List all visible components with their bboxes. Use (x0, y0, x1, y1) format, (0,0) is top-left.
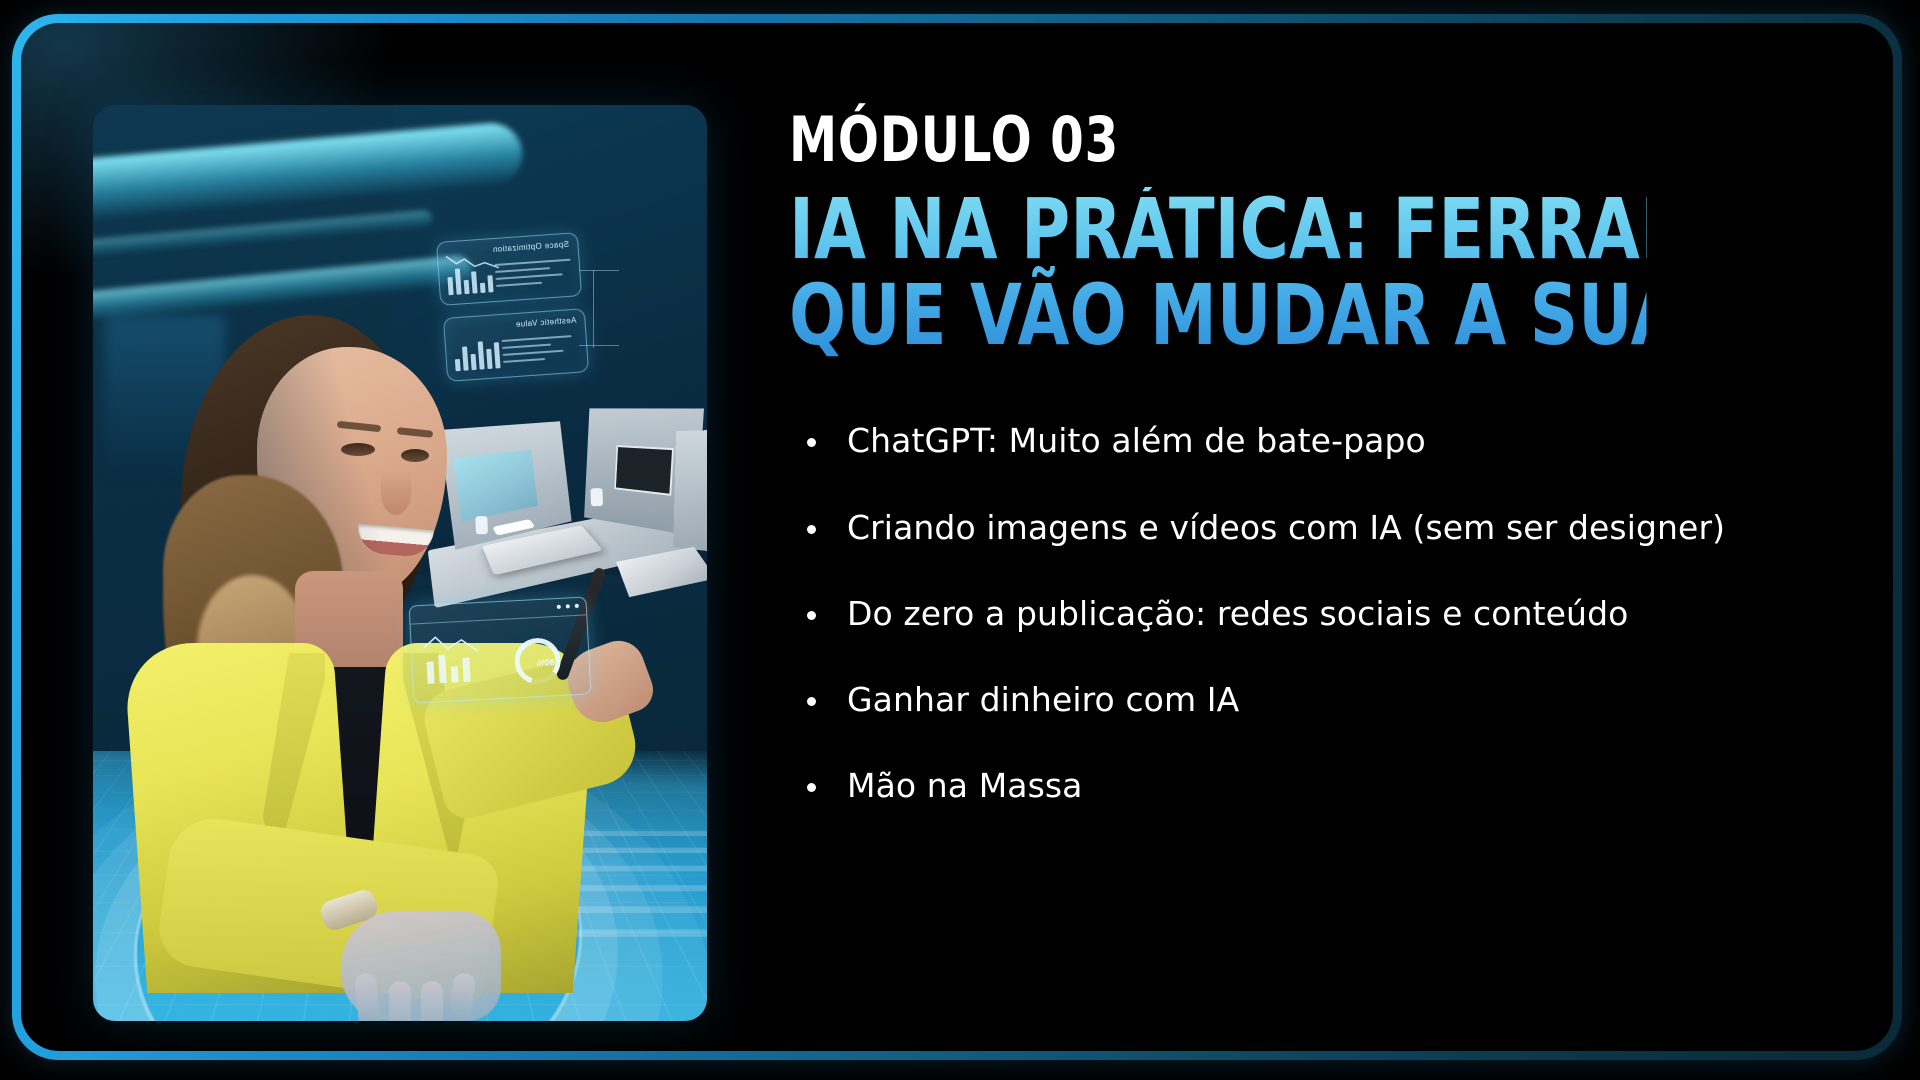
topic-list: ChatGPT: Muito além de bate-papo Criando… (789, 420, 1799, 807)
finger (389, 981, 411, 1021)
hud-card-aesthetic-value: Aesthetic Value (443, 308, 589, 382)
hud-card-title: Space Optimization (493, 240, 570, 254)
hud-window-card: 80% (409, 596, 592, 703)
list-item: Mão na Massa (789, 765, 1799, 807)
connector-line (593, 270, 594, 348)
list-item: ChatGPT: Muito além de bate-papo (789, 420, 1799, 462)
slide-inner-surface: Space Optimization (21, 23, 1893, 1051)
list-item: Criando imagens e vídeos com IA (sem ser… (789, 507, 1757, 549)
room-lamp (590, 488, 603, 506)
hero-image: Space Optimization (93, 105, 707, 1021)
hud-text-lines (502, 335, 580, 368)
hud-card-space-optimization: Space Optimization (436, 232, 582, 306)
room-bathroom-wall (673, 429, 707, 553)
hud-card-title: Aesthetic Value (515, 316, 576, 329)
progress-value: 80% (536, 657, 555, 668)
slide-border-frame: Space Optimization (12, 14, 1902, 1060)
slide-title-line-1: IA NA PRÁTICA: FERRAMENTAS (789, 180, 1893, 278)
slide-title: IA NA PRÁTICA: FERRAMENTAS QUE VÃO MUDAR… (789, 187, 1647, 358)
slide-root: Space Optimization (0, 0, 1920, 1080)
hud-text-lines (495, 259, 573, 292)
finger (421, 981, 443, 1021)
hud-bar-chart (454, 338, 501, 371)
hud-chart-icon (421, 629, 490, 688)
module-label: MÓDULO 03 (789, 109, 1625, 171)
photo-stage: Space Optimization (93, 105, 707, 1021)
list-item: Ganhar dinheiro com IA (789, 679, 1799, 721)
list-item: Do zero a publicação: redes sociais e co… (789, 593, 1799, 635)
slide-title-line-2: QUE VÃO MUDAR A SUA VIDA (789, 273, 1647, 359)
room-tv (614, 445, 674, 496)
text-column: MÓDULO 03 IA NA PRÁTICA: FERRAMENTAS QUE… (789, 109, 1861, 852)
connector-line (579, 270, 619, 271)
window-dots-icon (557, 604, 579, 609)
connector-line (579, 345, 619, 346)
hud-bar-chart (447, 262, 494, 295)
